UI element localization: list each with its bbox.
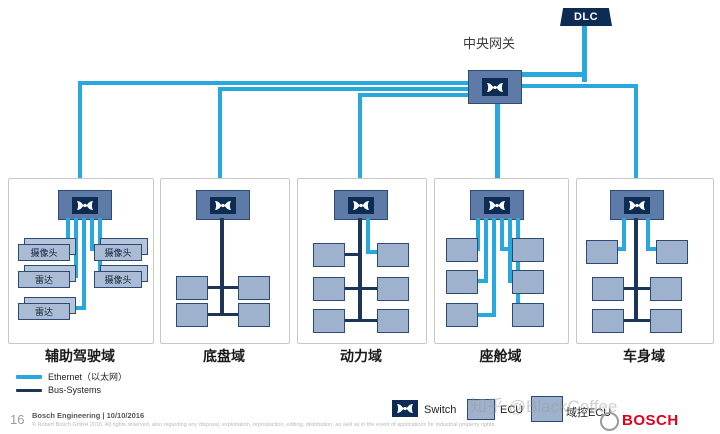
ecu-body-2[interactable] <box>656 240 688 264</box>
ecu-chassis-1[interactable] <box>176 276 208 300</box>
ecu-body-6[interactable] <box>650 309 682 333</box>
wire-trunk-powertrain-h <box>358 93 472 97</box>
dlc-node[interactable]: DLC <box>560 8 612 26</box>
ecu-powertrain-5[interactable] <box>313 309 345 333</box>
switch-icon <box>484 197 510 214</box>
domain-label-chassis: 底盘域 <box>160 346 288 366</box>
legend-swatch-ethernet <box>16 375 42 379</box>
ecu-powertrain-3[interactable] <box>313 277 345 301</box>
ecu-cockpit-5[interactable] <box>446 303 478 327</box>
domain-switch-cockpit[interactable] <box>470 190 524 220</box>
ecu-powertrain-4[interactable] <box>377 277 409 301</box>
legend-label-switch: Switch <box>424 404 456 416</box>
node-label: 雷达 <box>35 305 53 318</box>
domain-label-body: 车身域 <box>576 346 712 366</box>
dlc-label: DLC <box>574 11 598 23</box>
wire-trunk-adas-v <box>78 81 82 188</box>
diagram-canvas: DLC 中央网关 摄像头 雷 <box>0 0 720 434</box>
domain-label-cockpit: 座舱域 <box>434 346 567 366</box>
adas-sensor-camera-r1[interactable]: 摄像头 <box>94 238 140 253</box>
switch-icon <box>482 78 508 96</box>
legend-swatch-switch <box>392 400 418 417</box>
legend-label-bus: Bus-Systems <box>48 385 101 395</box>
ecu-body-4[interactable] <box>650 277 682 301</box>
wire-trunk-chassis-v <box>218 87 222 188</box>
switch-icon <box>348 197 374 214</box>
wire-adas-leg3 <box>82 218 86 310</box>
ecu-cockpit-1[interactable] <box>446 238 478 262</box>
node-label: 摄像头 <box>104 273 131 286</box>
wire-gateway-top-right <box>520 72 586 77</box>
wire-trunk-cockpit-v <box>495 100 500 188</box>
bosch-wordmark: BOSCH <box>622 412 679 429</box>
watermark: 知乎 @BlackCoffee <box>470 392 617 417</box>
adas-sensor-radar-l2[interactable]: 雷达 <box>18 297 68 312</box>
ecu-cockpit-2[interactable] <box>512 238 544 262</box>
ecu-cockpit-4[interactable] <box>512 270 544 294</box>
ecu-powertrain-6[interactable] <box>377 309 409 333</box>
card-face: 摄像头 <box>94 271 142 288</box>
gateway-title: 中央网关 <box>463 33 515 52</box>
card-face: 摄像头 <box>94 244 142 261</box>
wire-cockpit-leg3 <box>492 218 496 317</box>
legend-swatch-bus <box>16 389 42 392</box>
wire-trunk-adas-h <box>78 81 472 85</box>
adas-sensor-radar-l1[interactable]: 雷达 <box>18 265 68 280</box>
switch-icon <box>624 197 650 214</box>
card-face: 雷达 <box>18 303 70 320</box>
ecu-cockpit-6[interactable] <box>512 303 544 327</box>
switch-icon <box>72 197 98 214</box>
adas-sensor-camera-r2[interactable]: 摄像头 <box>94 265 140 280</box>
domain-label-powertrain: 动力域 <box>297 346 425 366</box>
switch-icon <box>210 197 236 214</box>
wire-cockpit-leg2 <box>484 218 488 283</box>
node-label: 雷达 <box>35 273 53 286</box>
domain-switch-chassis[interactable] <box>196 190 250 220</box>
domain-label-adas: 辅助驾驶域 <box>8 346 152 366</box>
ecu-body-1[interactable] <box>586 240 618 264</box>
legend-label-ethernet: Ethernet（以太网） <box>48 370 127 383</box>
ecu-body-3[interactable] <box>592 277 624 301</box>
wire-body-spine <box>634 218 638 321</box>
page-number: 16 <box>10 412 24 427</box>
ecu-chassis-4[interactable] <box>238 303 270 327</box>
wire-trunk-body-h <box>520 84 638 88</box>
card-face: 摄像头 <box>18 244 70 261</box>
footer-line-1: Bosch Engineering | 10/10/2016 <box>32 411 144 420</box>
wire-powertrain-eth-branch-v <box>366 218 370 254</box>
bosch-logo-mark <box>600 412 619 431</box>
adas-sensor-camera-l1[interactable]: 摄像头 <box>18 238 68 253</box>
wire-chassis-spine <box>220 218 224 315</box>
wire-powertrain-spine <box>358 218 362 321</box>
wire-trunk-chassis-h <box>218 87 472 91</box>
ecu-cockpit-3[interactable] <box>446 270 478 294</box>
domain-switch-body[interactable] <box>610 190 664 220</box>
node-label: 摄像头 <box>104 246 131 259</box>
domain-switch-adas[interactable] <box>58 190 112 220</box>
wire-trunk-body-v <box>634 84 638 188</box>
footer-line-2: © Robert Bosch GmbH 2016. All rights res… <box>32 422 496 428</box>
wire-trunk-powertrain-v <box>358 93 362 188</box>
ecu-body-5[interactable] <box>592 309 624 333</box>
domain-switch-powertrain[interactable] <box>334 190 388 220</box>
ecu-powertrain-1[interactable] <box>313 243 345 267</box>
central-gateway-switch[interactable] <box>468 70 522 104</box>
ecu-powertrain-2[interactable] <box>377 243 409 267</box>
ecu-chassis-3[interactable] <box>176 303 208 327</box>
ecu-chassis-2[interactable] <box>238 276 270 300</box>
card-face: 雷达 <box>18 271 70 288</box>
node-label: 摄像头 <box>30 246 57 259</box>
